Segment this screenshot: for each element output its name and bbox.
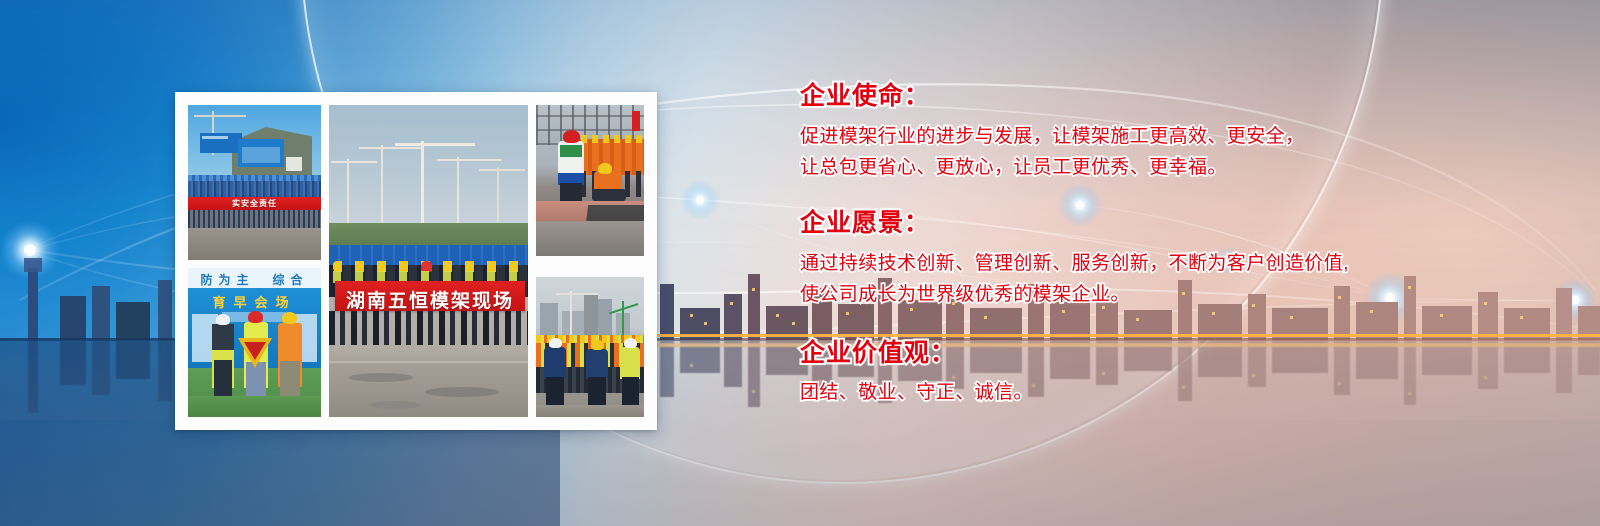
values-heading: 企业价值观： xyxy=(800,337,1500,371)
photo-collage-frame: 实安全责任 防为主 综合 育早会场 xyxy=(175,92,657,430)
vision-line-1: 通过持续技术创新、管理创新、服务创新，不断为客户创造价值, xyxy=(800,249,1500,280)
vision-heading: 企业愿景： xyxy=(800,207,1500,241)
photo-banner-text: 实安全责任 xyxy=(188,198,321,209)
photo-sign-text-main: 育早会场 xyxy=(188,292,321,311)
mission-line-1: 促进模架行业的进步与发展，让模架施工更高效、更安全， xyxy=(800,122,1500,153)
culture-block-vision: 企业愿景： 通过持续技术创新、管理创新、服务创新，不断为客户创造价值, 使公司成… xyxy=(800,207,1500,310)
network-node-core xyxy=(696,196,704,204)
culture-block-values: 企业价值观： 团结、敬业、守正、诚信。 xyxy=(800,337,1500,410)
culture-text-column: 企业使命： 促进模架行业的进步与发展，让模架施工更高效、更安全， 让总包更省心、… xyxy=(800,80,1500,425)
culture-block-mission: 企业使命： 促进模架行业的进步与发展，让模架施工更高效、更安全， 让总包更省心、… xyxy=(800,80,1500,183)
photo-site-banner-text: 湖南五恒模架现场 xyxy=(335,286,525,313)
vision-line-2: 使公司成长为世界级优秀的模架企业。 xyxy=(800,280,1500,311)
mission-line-2: 让总包更省心、更放心，让员工更优秀、更幸福。 xyxy=(800,153,1500,184)
corporate-culture-banner: 实安全责任 防为主 综合 育早会场 xyxy=(0,0,1600,526)
values-line-1: 团结、敬业、守正、诚信。 xyxy=(800,378,1500,409)
collage-photo-safety-pledge[interactable]: 实安全责任 xyxy=(188,105,321,260)
collage-photo-site-banner[interactable]: 湖南五恒模架现场 xyxy=(329,105,528,417)
collage-photo-morning-meeting[interactable]: 防为主 综合 育早会场 xyxy=(188,268,321,417)
photo-site-banner-strip: 湖南五恒模架现场 xyxy=(335,281,525,311)
collage-photo-training-demo[interactable] xyxy=(536,105,644,256)
photo-sign-text-top: 防为主 综合 xyxy=(188,271,321,288)
mission-heading: 企业使命： xyxy=(800,80,1500,114)
collage-photo-site-assembly[interactable] xyxy=(536,277,644,417)
